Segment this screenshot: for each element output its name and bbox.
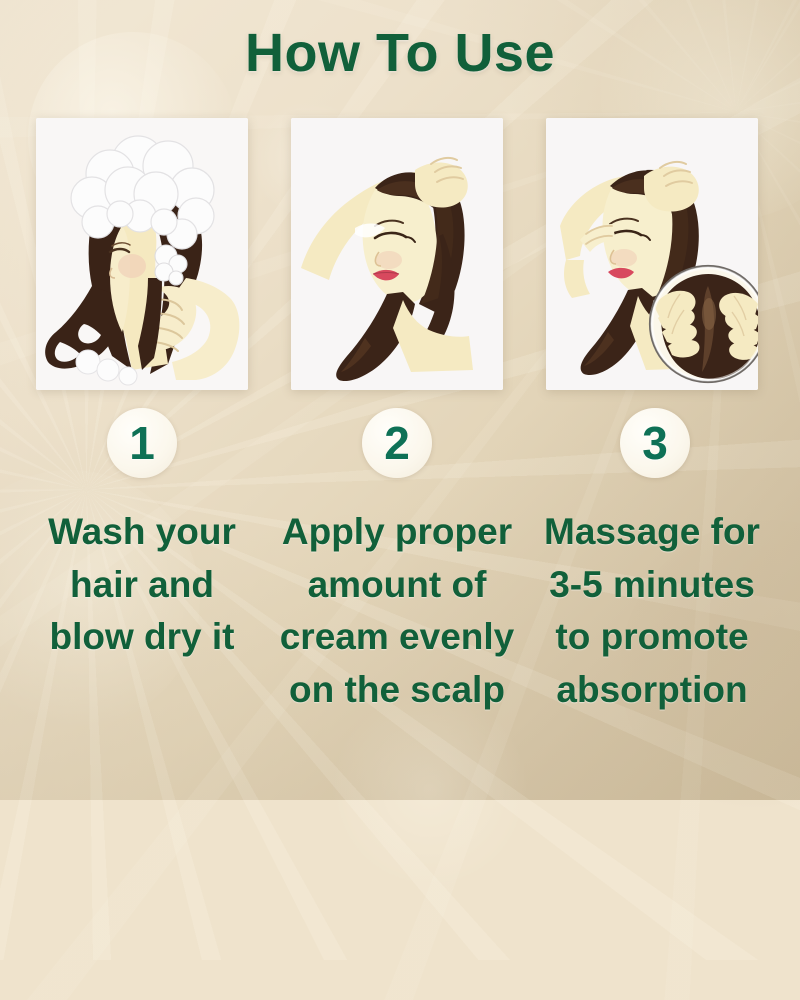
wash-hair-illustration bbox=[36, 118, 248, 390]
step-number-badge-1: 1 bbox=[107, 408, 177, 478]
caption-line: Wash your bbox=[22, 506, 262, 559]
step-caption-3: Massage for3-5 minutesto promoteabsorpti… bbox=[532, 506, 772, 716]
caption-line: Massage for bbox=[532, 506, 772, 559]
caption-line: blow dry it bbox=[22, 611, 262, 664]
caption-line: cream evenly bbox=[277, 611, 517, 664]
caption-line: absorption bbox=[532, 664, 772, 717]
step-number-3: 3 bbox=[642, 420, 668, 466]
caption-line: to promote bbox=[532, 611, 772, 664]
step-caption-1: Wash yourhair andblow dry it bbox=[22, 506, 262, 664]
step-number-badge-3: 3 bbox=[620, 408, 690, 478]
caption-line: Apply proper bbox=[277, 506, 517, 559]
step-illustration-3 bbox=[546, 118, 758, 390]
caption-line: 3-5 minutes bbox=[532, 559, 772, 612]
step-number-badge-2: 2 bbox=[362, 408, 432, 478]
apply-cream-illustration bbox=[291, 118, 503, 390]
scalp-massage-inset bbox=[650, 266, 758, 382]
massage-scalp-illustration bbox=[546, 118, 758, 390]
step-illustration-1 bbox=[36, 118, 248, 390]
caption-line: hair and bbox=[22, 559, 262, 612]
step-illustration-2 bbox=[291, 118, 503, 390]
step-caption-2: Apply properamount ofcream evenlyon the … bbox=[277, 506, 517, 716]
caption-line: on the scalp bbox=[277, 664, 517, 717]
page-title: How To Use bbox=[0, 22, 800, 84]
step-number-2: 2 bbox=[384, 420, 410, 466]
caption-line: amount of bbox=[277, 559, 517, 612]
step-number-1: 1 bbox=[129, 420, 155, 466]
